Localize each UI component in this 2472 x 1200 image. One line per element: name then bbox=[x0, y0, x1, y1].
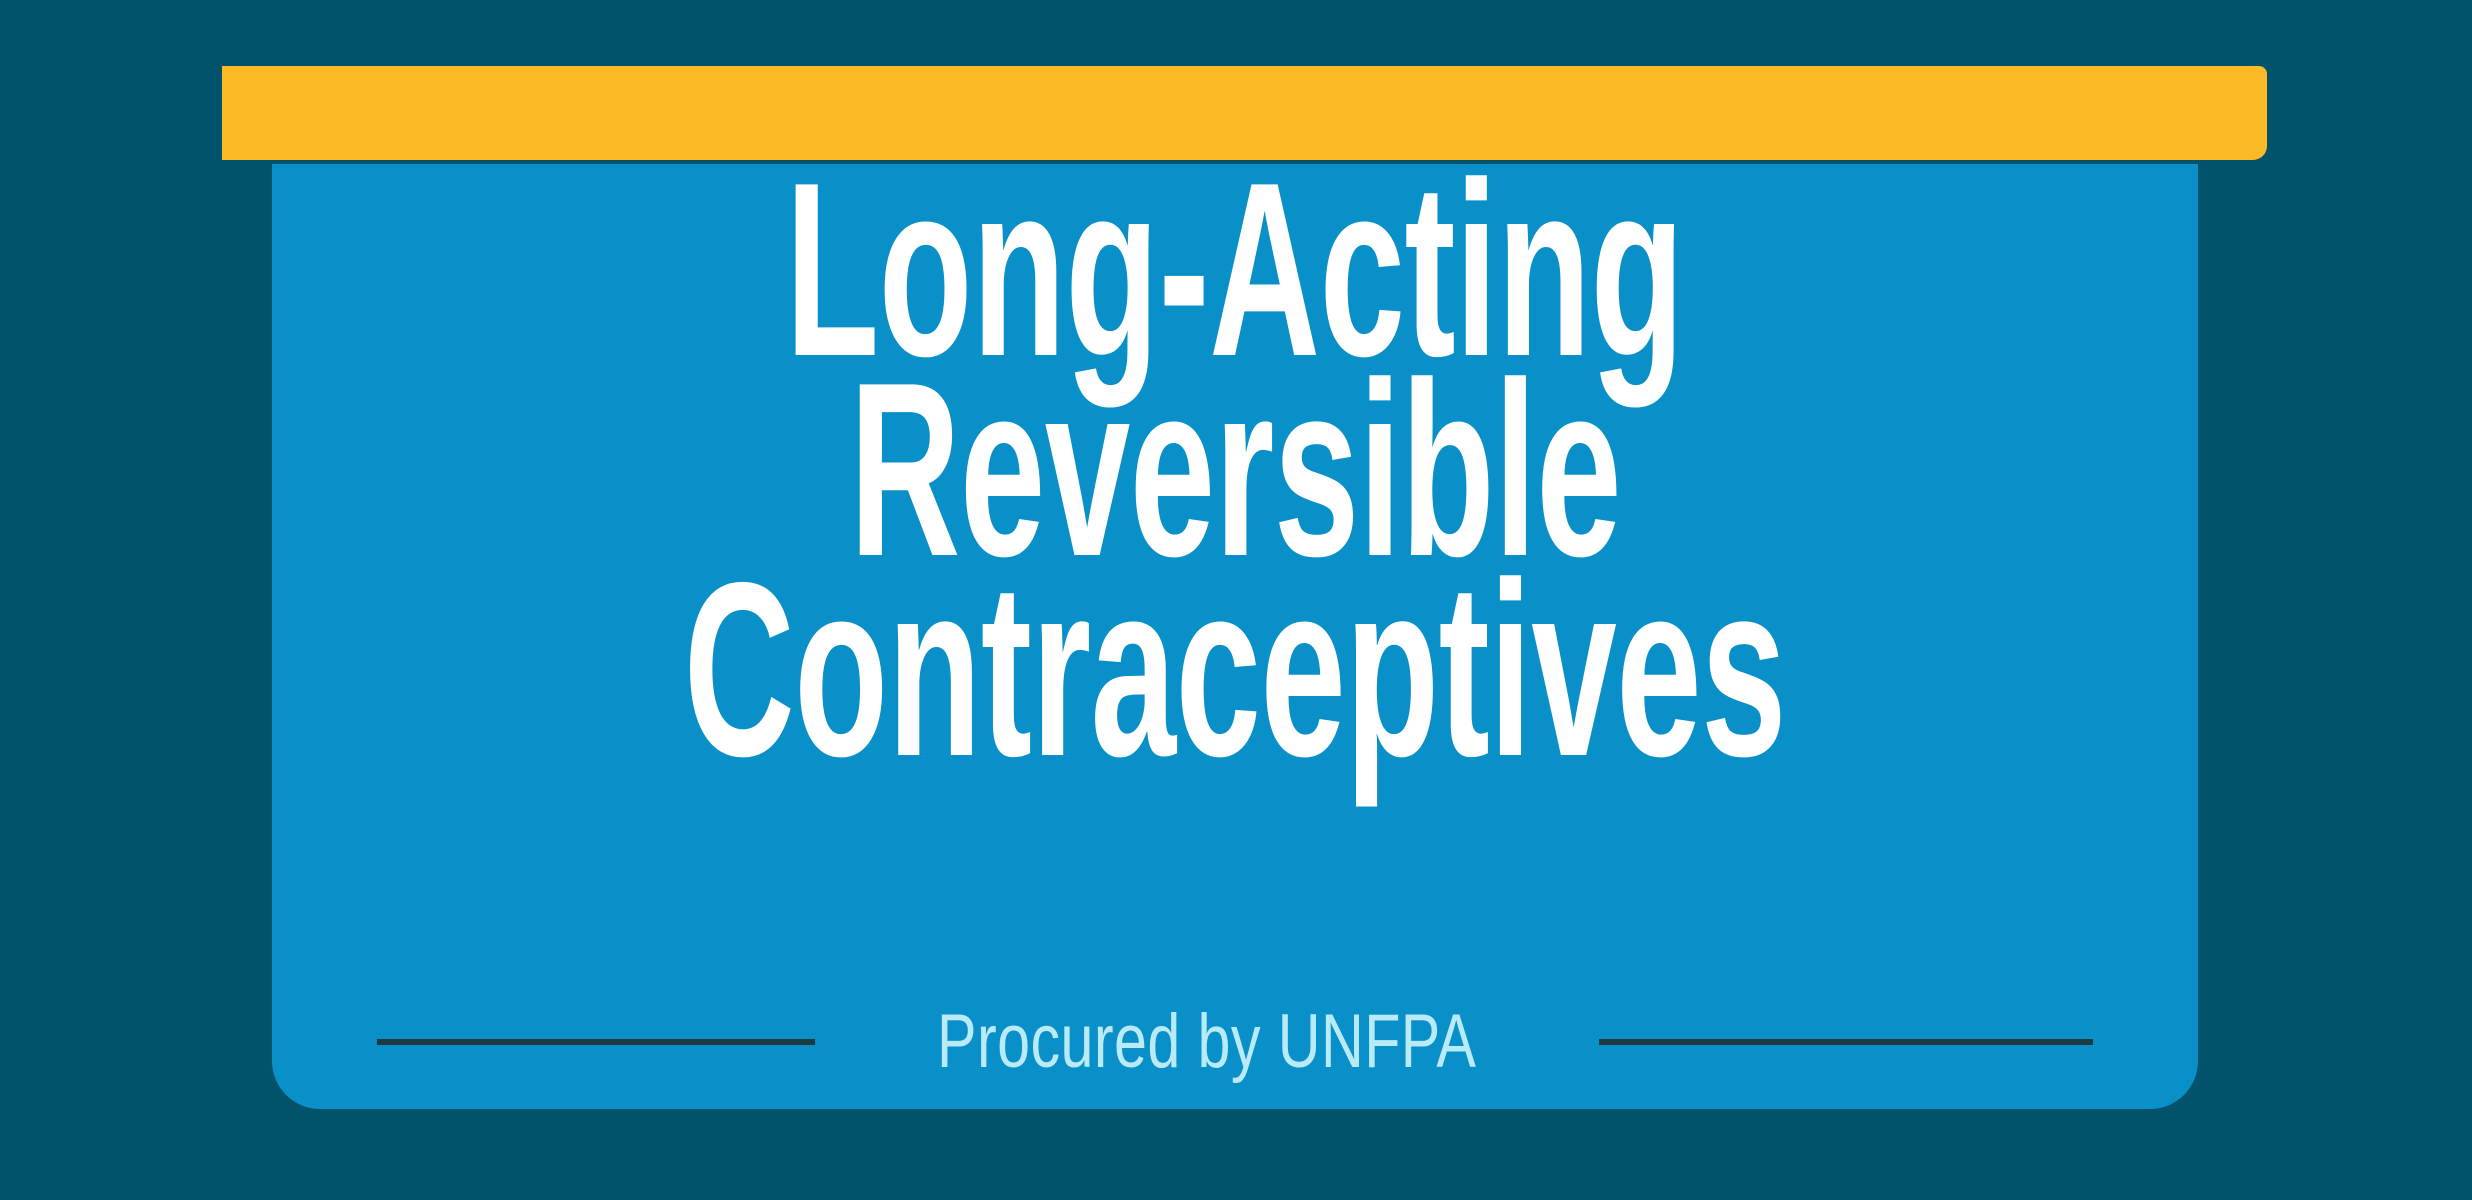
title-line-3: Contraceptives bbox=[684, 572, 1786, 768]
procured-by-label: Procured by UNFPA bbox=[937, 1004, 1476, 1080]
divider-line-right bbox=[1599, 1039, 2093, 1045]
divider-line-left bbox=[377, 1039, 815, 1045]
title-card: Long-Acting Reversible Contraceptives Pr… bbox=[272, 164, 2198, 1109]
page-title: Long-Acting Reversible Contraceptives bbox=[272, 164, 2198, 768]
slide-canvas: Long-Acting Reversible Contraceptives Pr… bbox=[0, 0, 2472, 1200]
footer-attribution: Procured by UNFPA bbox=[272, 1003, 2198, 1081]
